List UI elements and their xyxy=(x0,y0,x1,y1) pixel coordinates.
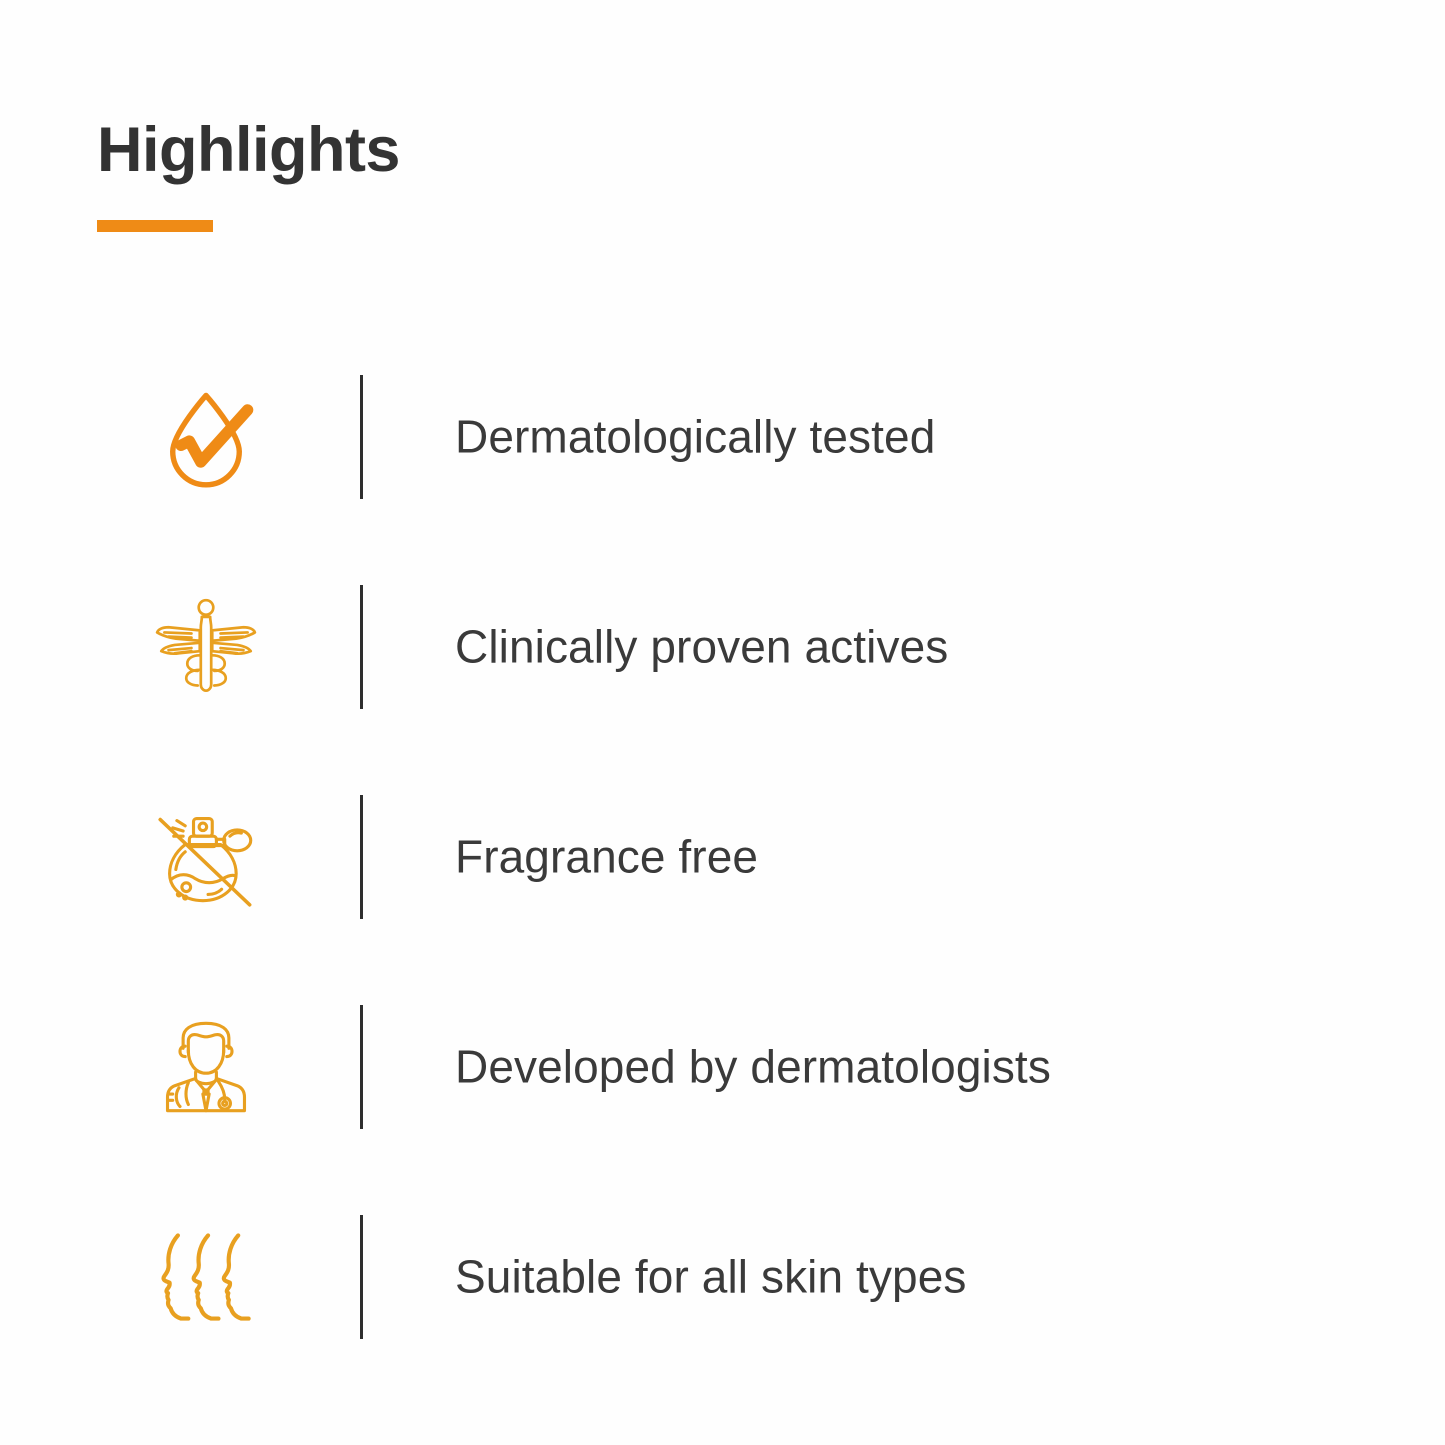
caduceus-icon xyxy=(145,542,267,752)
highlight-row: Dermatologically tested xyxy=(0,332,1445,542)
three-face-profiles-icon xyxy=(145,1172,267,1382)
row-divider xyxy=(360,795,363,919)
highlights-panel: Highlights Dermatologically tested xyxy=(0,0,1445,1445)
highlight-row: Suitable for all skin types xyxy=(0,1172,1445,1382)
highlight-row: Clinically proven actives xyxy=(0,542,1445,752)
highlights-list: Dermatologically tested xyxy=(0,332,1445,1382)
page-title: Highlights xyxy=(97,118,400,182)
highlight-label: Fragrance free xyxy=(455,832,758,883)
row-divider xyxy=(360,1005,363,1129)
highlight-label: Clinically proven actives xyxy=(455,622,948,673)
row-divider xyxy=(360,585,363,709)
doctor-icon xyxy=(145,962,267,1172)
droplet-check-icon xyxy=(145,332,267,542)
highlight-label: Suitable for all skin types xyxy=(455,1252,967,1303)
highlight-label: Developed by dermatologists xyxy=(455,1042,1051,1093)
header: Highlights xyxy=(97,118,400,232)
highlight-row: Fragrance free xyxy=(0,752,1445,962)
highlight-row: Developed by dermatologists xyxy=(0,962,1445,1172)
title-underline-rule xyxy=(97,220,213,232)
no-fragrance-bottle-icon xyxy=(145,752,267,962)
row-divider xyxy=(360,375,363,499)
highlight-label: Dermatologically tested xyxy=(455,412,935,463)
row-divider xyxy=(360,1215,363,1339)
